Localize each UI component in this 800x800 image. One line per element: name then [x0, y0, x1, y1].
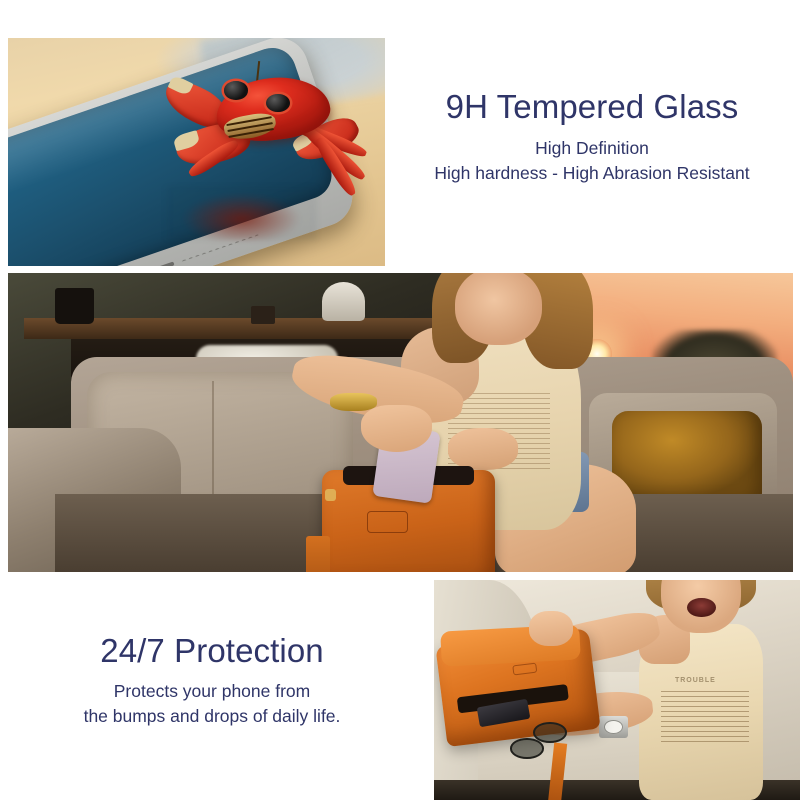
glass-headline: 9H Tempered Glass [392, 88, 792, 126]
woman-dropping-bag-photo: TROUBLE [434, 580, 800, 800]
glass-subline-2: High hardness - High Abrasion Resistant [392, 161, 792, 186]
glass-subline-1: High Definition [392, 136, 792, 161]
woman-open-mouth [687, 598, 716, 618]
woman-head [455, 273, 541, 345]
handbag-leather-tag [367, 511, 408, 533]
woman-hand-on-bag [529, 611, 573, 646]
handbag-strap [306, 536, 330, 572]
charging-port-icon [141, 261, 174, 266]
protection-subline-2: the bumps and drops of daily life. [12, 704, 412, 729]
crab-on-phone-photo [8, 38, 385, 266]
protection-headline: 24/7 Protection [12, 632, 412, 670]
red-crab [159, 59, 378, 200]
tank-top-brand-text: TROUBLE [675, 677, 716, 684]
gold-bracelet [330, 393, 377, 411]
feature-glass-copy: 9H Tempered Glass High Definition High h… [392, 88, 792, 186]
feature-protection-copy: 24/7 Protection Protects your phone from… [12, 632, 412, 729]
crab-eye-left [224, 81, 248, 99]
handbag-zipper-pull-icon [325, 489, 335, 501]
protection-subline-1: Protects your phone from [12, 679, 412, 704]
handbag-leather-tag-2 [512, 663, 538, 676]
woman-hand-right [448, 428, 519, 470]
small-decor-object [251, 306, 275, 324]
wrist-watch [599, 716, 628, 738]
tank-top-paragraph-lines [661, 691, 749, 742]
sofa-cushion-seam [212, 381, 214, 513]
sunglasses-falling-icon [507, 721, 588, 761]
crab-eye-right [266, 94, 290, 112]
white-vase-decor [322, 282, 365, 321]
dark-vase-decor [55, 288, 94, 324]
woman-hand-holding-phone [361, 405, 432, 453]
tank-top-print-2: TROUBLE [661, 677, 749, 743]
woman-putting-phone-in-bag-photo [8, 273, 793, 572]
